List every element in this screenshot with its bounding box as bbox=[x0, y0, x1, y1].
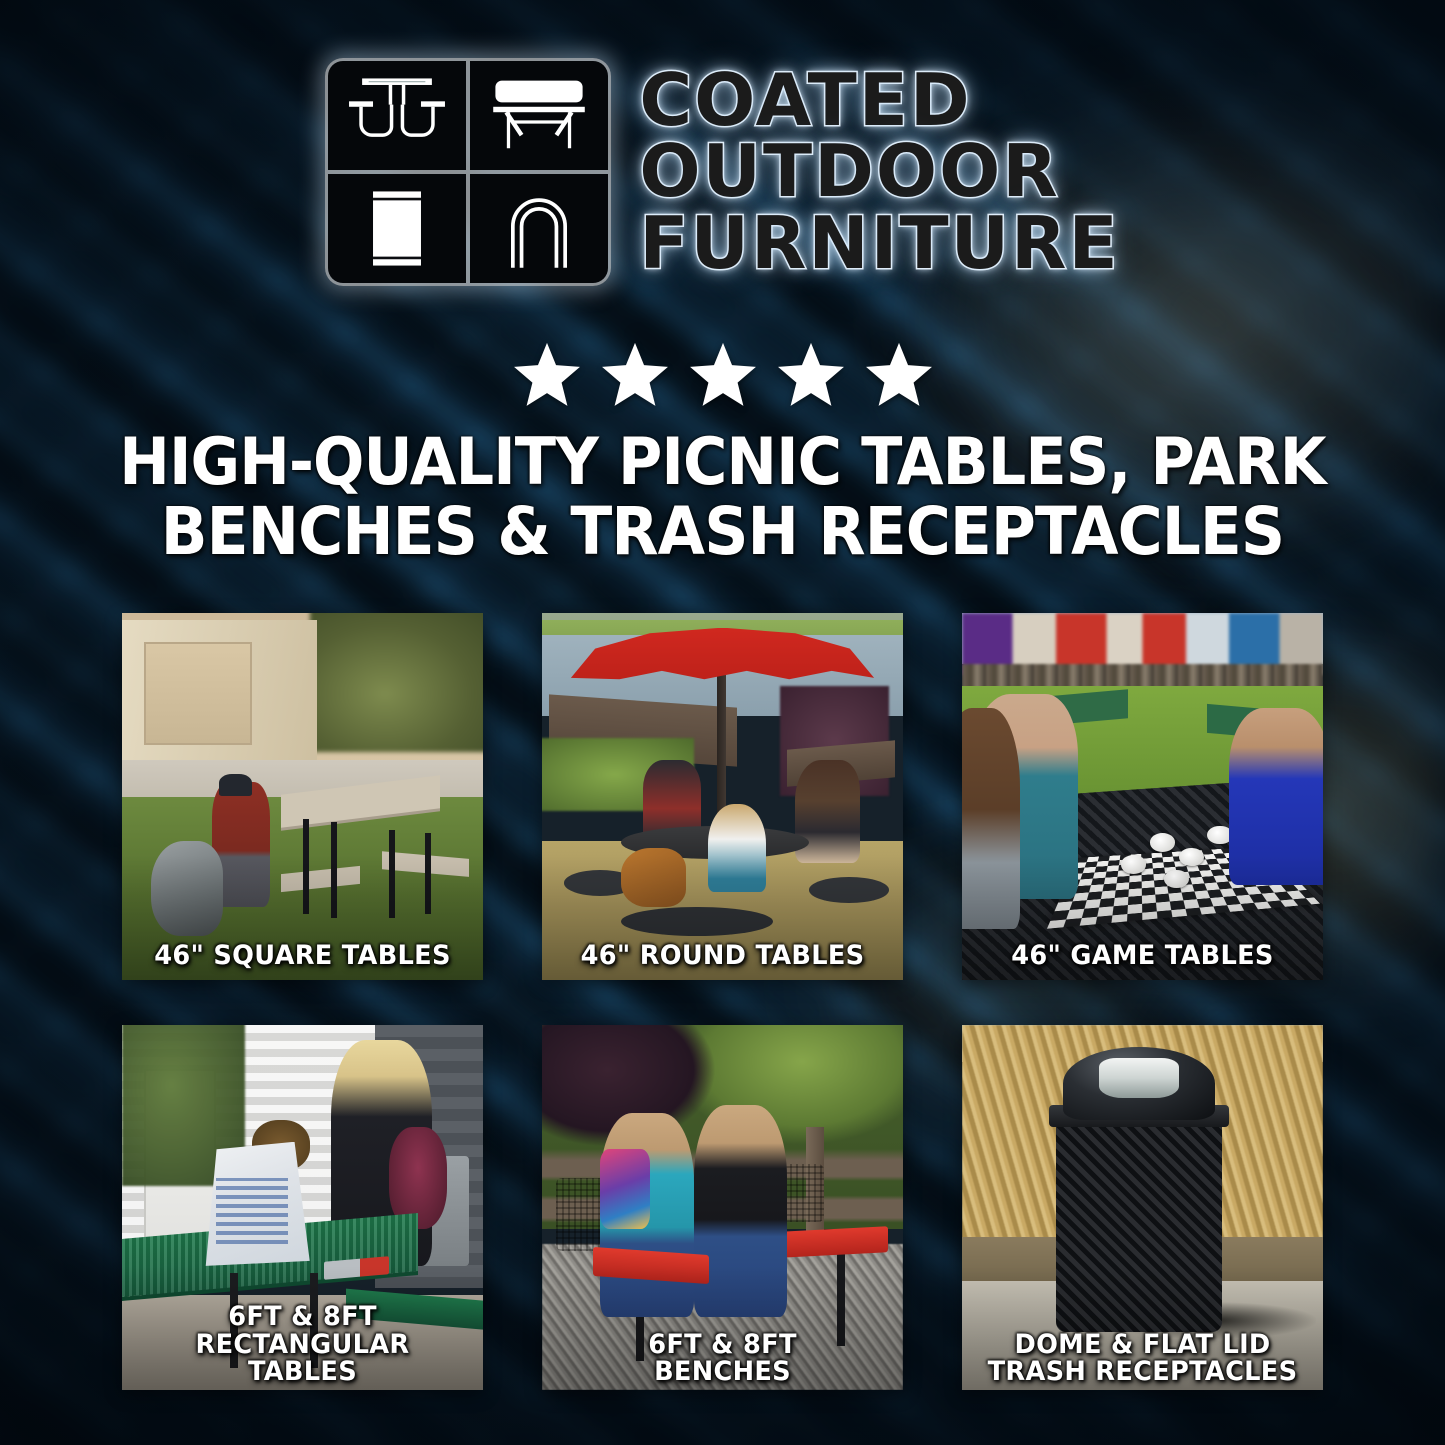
brand-line-2: OUTDOOR bbox=[639, 137, 1119, 206]
caption-line: DOME & FLAT LID bbox=[977, 1331, 1309, 1359]
caption-line: 46" SQUARE TABLES bbox=[137, 942, 469, 970]
picnic-table-icon bbox=[328, 61, 466, 170]
star-icon bbox=[511, 340, 583, 410]
logo-mark bbox=[325, 58, 611, 286]
arch-lid-icon bbox=[470, 174, 608, 283]
product-card-rectangular-tables[interactable]: 6FT & 8FT RECTANGULAR TABLES bbox=[122, 1025, 483, 1390]
caption-line: 6FT & 8FT bbox=[557, 1331, 889, 1359]
product-card-square-tables[interactable]: 46" SQUARE TABLES bbox=[122, 613, 483, 980]
product-caption-rectangular-tables: 6FT & 8FT RECTANGULAR TABLES bbox=[131, 1303, 474, 1386]
brand-header: COATED OUTDOOR FURNITURE bbox=[0, 58, 1445, 286]
caption-line: 46" ROUND TABLES bbox=[557, 942, 889, 970]
bench-icon bbox=[470, 61, 608, 170]
product-caption-round-tables: 46" ROUND TABLES bbox=[551, 942, 894, 970]
brand-wordmark: COATED OUTDOOR FURNITURE bbox=[639, 66, 1119, 277]
star-icon bbox=[687, 340, 759, 410]
headline-line-2: BENCHES & TRASH RECEPTACLES bbox=[51, 500, 1395, 563]
product-card-benches[interactable]: 6FT & 8FT BENCHES bbox=[542, 1025, 903, 1390]
product-caption-game-tables: 46" GAME TABLES bbox=[971, 942, 1314, 970]
trash-receptacle-icon bbox=[328, 174, 466, 283]
caption-line: 6FT & 8FT bbox=[137, 1303, 469, 1331]
star-icon bbox=[863, 340, 935, 410]
product-card-game-tables[interactable]: 46" GAME TABLES bbox=[962, 613, 1323, 980]
star-icon bbox=[599, 340, 671, 410]
caption-line: RECTANGULAR TABLES bbox=[137, 1331, 469, 1386]
product-card-round-tables[interactable]: 46" ROUND TABLES bbox=[542, 613, 903, 980]
product-caption-trash-receptacles: DOME & FLAT LID TRASH RECEPTACLES bbox=[971, 1331, 1314, 1386]
page-headline: HIGH-QUALITY PICNIC TABLES, PARK BENCHES… bbox=[0, 432, 1445, 564]
headline-line-1: HIGH-QUALITY PICNIC TABLES, PARK bbox=[51, 432, 1395, 494]
product-card-trash-receptacles[interactable]: DOME & FLAT LID TRASH RECEPTACLES bbox=[962, 1025, 1323, 1390]
star-icon bbox=[775, 340, 847, 410]
brand-line-1: COATED bbox=[639, 66, 1119, 135]
brand-line-3: FURNITURE bbox=[639, 209, 1119, 278]
caption-line: TRASH RECEPTACLES bbox=[977, 1358, 1309, 1386]
caption-line: 46" GAME TABLES bbox=[977, 942, 1309, 970]
product-grid: 46" SQUARE TABLES 46" ROUND TABLE bbox=[122, 613, 1323, 1390]
product-caption-square-tables: 46" SQUARE TABLES bbox=[131, 942, 474, 970]
rating-stars bbox=[0, 340, 1445, 410]
caption-line: BENCHES bbox=[557, 1358, 889, 1386]
product-caption-benches: 6FT & 8FT BENCHES bbox=[551, 1331, 894, 1386]
